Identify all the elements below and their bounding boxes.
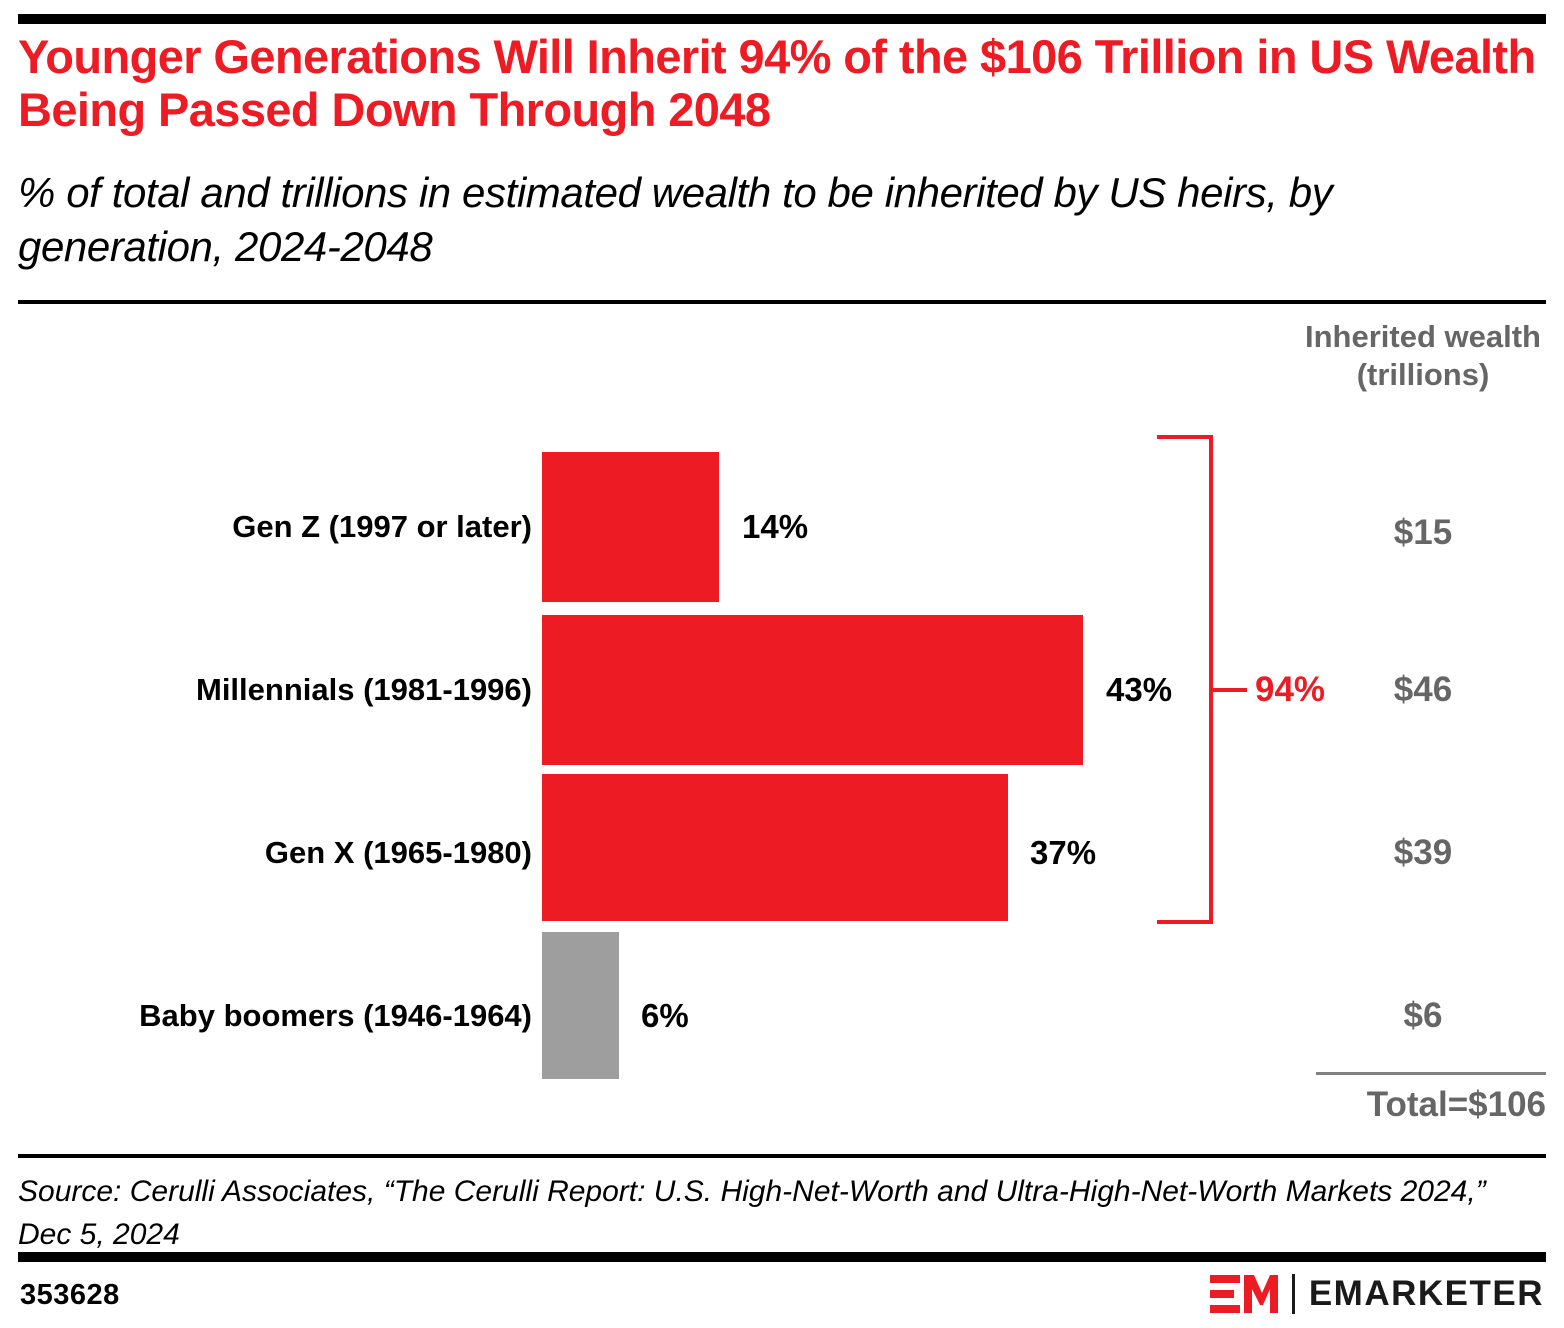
emarketer-logo[interactable]: EMARKETER [1210,1272,1544,1316]
chart-title: Younger Generations Will Inherit 94% of … [18,30,1548,136]
category-label: Baby boomers (1946-1964) [139,998,532,1034]
bar-baby-boomers[interactable] [542,932,619,1079]
chart-page: Younger Generations Will Inherit 94% of … [0,0,1564,1328]
wealth-value: $15 [1300,513,1546,553]
category-label: Gen Z (1997 or later) [232,509,532,545]
bar-gen-x[interactable] [542,774,1008,921]
wealth-value: $6 [1300,996,1546,1036]
top-rule [18,14,1546,24]
bar-millennials[interactable] [542,615,1083,765]
header-divider [18,300,1546,304]
chart-id: 353628 [20,1279,120,1312]
logo-wordmark: EMARKETER [1309,1274,1544,1314]
total-label: Total=$106 [1230,1085,1546,1125]
logo-divider [1292,1274,1295,1314]
bar-value-label: 14% [742,508,808,546]
category-label: Millennials (1981-1996) [196,672,532,708]
bar-gen-z[interactable] [542,452,719,602]
bar-value-label: 43% [1106,671,1172,709]
bar-value-label: 6% [641,997,689,1035]
column-header-inherited-wealth: Inherited wealth (trillions) [1300,318,1546,394]
em-monogram-icon [1210,1275,1278,1313]
wealth-value: $39 [1300,833,1546,873]
wealth-value: $46 [1300,670,1546,710]
source-note: Source: Cerulli Associates, “The Cerulli… [18,1170,1518,1256]
bracket-tick [1213,688,1247,692]
category-label: Gen X (1965-1980) [265,835,532,871]
bar-value-label: 37% [1030,834,1096,872]
chart-subtitle: % of total and trillions in estimated we… [18,166,1518,274]
bottom-rule [18,1252,1546,1262]
total-divider [1316,1072,1546,1075]
footer-divider [18,1154,1546,1158]
